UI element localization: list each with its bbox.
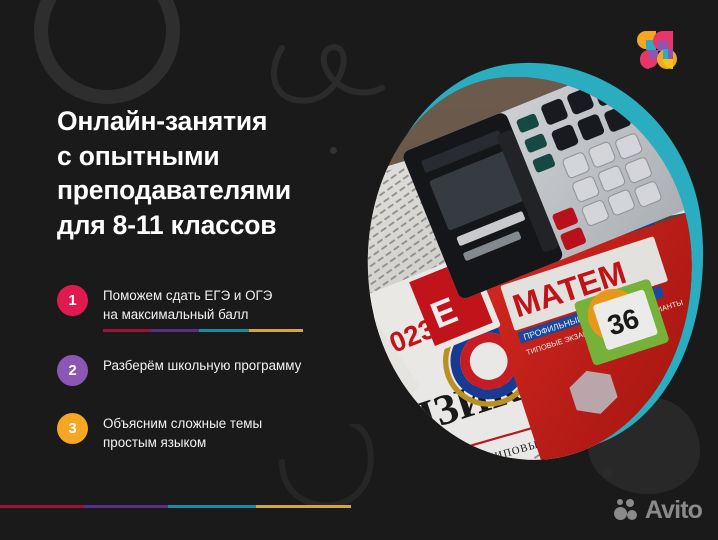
exam-textbooks-with-calculator-photo: ФИЗИКА ФИЗИКА ТИПОВЫЕ ВАРИАНТЫ (355, 65, 705, 471)
avito-wordmark: Avito (645, 498, 702, 523)
benefit-text-2: Разберём школьную программу (103, 356, 301, 375)
benefit-text-1: Поможем сдать ЕГЭ и ОГЭ на максимальный … (103, 286, 303, 324)
list-item: 1 Поможем сдать ЕГЭ и ОГЭ на максимальны… (57, 284, 377, 332)
benefits-list: 1 Поможем сдать ЕГЭ и ОГЭ на максимальны… (57, 284, 377, 452)
benefit-badge-1: 1 (57, 285, 88, 316)
bottom-accent-bar (0, 505, 351, 508)
promo-poster: ФИЗИКА ФИЗИКА ТИПОВЫЕ ВАРИАНТЫ (0, 0, 718, 540)
list-item: 2 Разберём школьную программу (57, 354, 377, 386)
benefit-underline-accent (103, 329, 303, 332)
avito-watermark: Avito (614, 498, 702, 523)
avito-dots-icon (614, 498, 641, 523)
benefit-badge-2: 2 (57, 355, 88, 386)
page-title: Онлайн-занятия с опытными преподавателям… (57, 104, 357, 243)
studio-s-logo-icon (636, 30, 680, 70)
benefit-text-3: Объясним сложные темы простым языком (103, 414, 262, 452)
photo-stage: ФИЗИКА ФИЗИКА ТИПОВЫЕ ВАРИАНТЫ (368, 62, 718, 474)
ring-decoration-icon (34, 0, 180, 104)
list-item: 3 Объясним сложные темы простым языком (57, 412, 377, 452)
benefit-badge-3: 3 (57, 413, 88, 444)
